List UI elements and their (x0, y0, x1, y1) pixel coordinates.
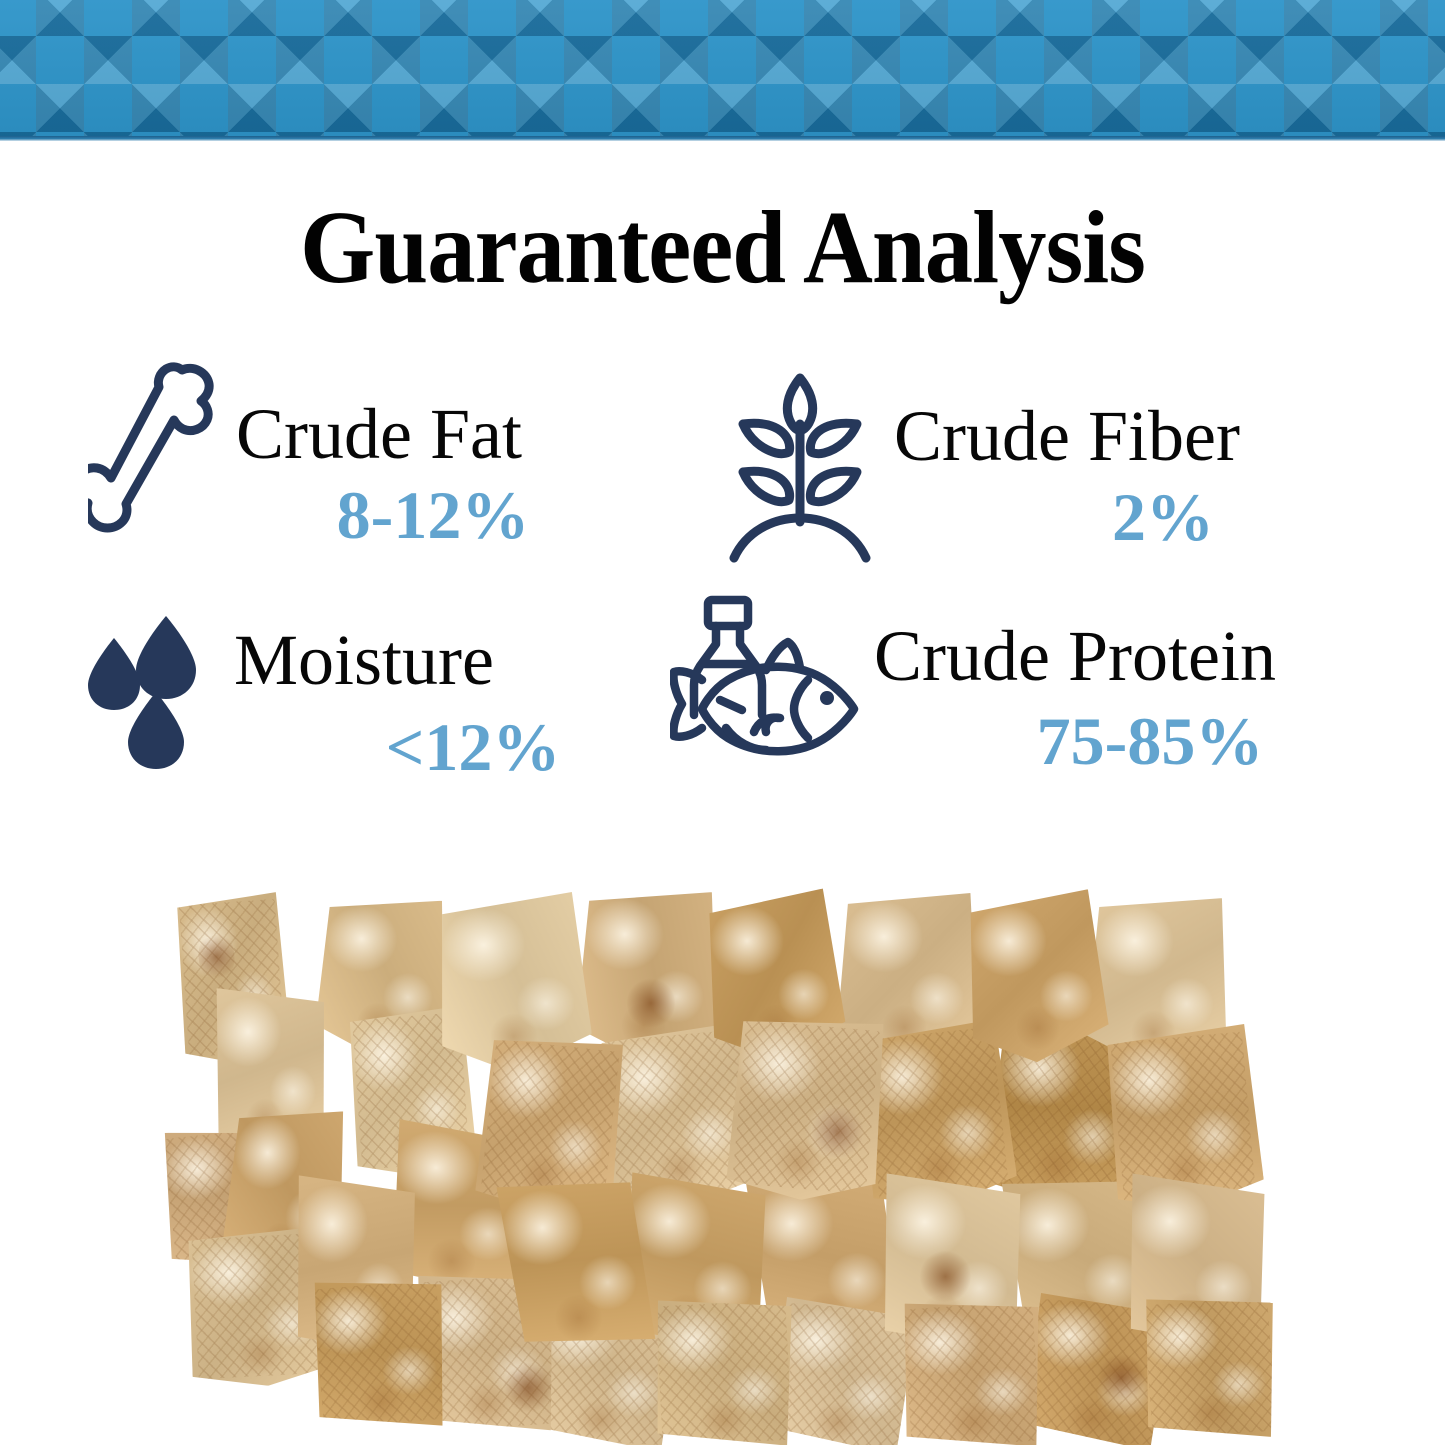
chip-texture (732, 1020, 880, 1195)
wheat-icon (718, 362, 883, 567)
nutrient-text-moisture: Moisture <12% (228, 618, 698, 786)
nutrient-item-moisture: Moisture <12% (78, 600, 698, 822)
guaranteed-analysis-grid: Crude Fat 8-12% (70, 352, 1400, 822)
chip-texture (1110, 1031, 1255, 1202)
chip-texture (481, 1039, 620, 1208)
chip-texture (902, 1301, 1042, 1445)
nutrient-value: 2% (888, 478, 1398, 556)
rawhide-chip (1135, 1287, 1285, 1445)
bone-icon (88, 356, 218, 556)
nutrient-value: <12% (228, 702, 698, 786)
rawhide-chip (303, 1268, 456, 1440)
nutrient-item-crude-protein: Crude Protein 75-85% (670, 592, 1400, 822)
chip-texture (863, 1027, 1009, 1202)
rawhide-chip (722, 1008, 890, 1207)
banner-bottom-edge (0, 136, 1445, 141)
nutrient-text-crude-fat: Crude Fat 8-12% (228, 392, 698, 554)
nutrient-label: Crude Fat (228, 392, 698, 476)
chip-texture (655, 1300, 792, 1445)
nutrient-value: 8-12% (228, 476, 698, 554)
nutrient-item-crude-fiber: Crude Fiber 2% (698, 352, 1398, 587)
nutrient-label: Crude Protein (870, 614, 1400, 698)
chip-texture (312, 1278, 447, 1429)
nutrient-text-crude-fiber: Crude Fiber 2% (888, 394, 1398, 556)
nutrient-label: Crude Fiber (888, 394, 1398, 478)
banner-sheen (0, 0, 1445, 140)
rawhide-chip (646, 1290, 802, 1445)
page-title: Guaranteed Analysis (51, 192, 1395, 304)
nutrient-label: Moisture (228, 618, 698, 702)
rawhide-chip (893, 1291, 1052, 1445)
nutrient-value: 75-85% (870, 698, 1400, 780)
fish-oil-icon (670, 592, 875, 782)
chip-texture (1144, 1297, 1276, 1439)
product-photo (0, 862, 1445, 1445)
nutrient-item-crude-fat: Crude Fat 8-12% (78, 352, 698, 587)
water-drops-icon (88, 610, 228, 775)
rawhide-chip-pile (150, 874, 1310, 1434)
header-plaid-banner (0, 0, 1445, 140)
nutrient-text-crude-protein: Crude Protein 75-85% (870, 614, 1400, 780)
